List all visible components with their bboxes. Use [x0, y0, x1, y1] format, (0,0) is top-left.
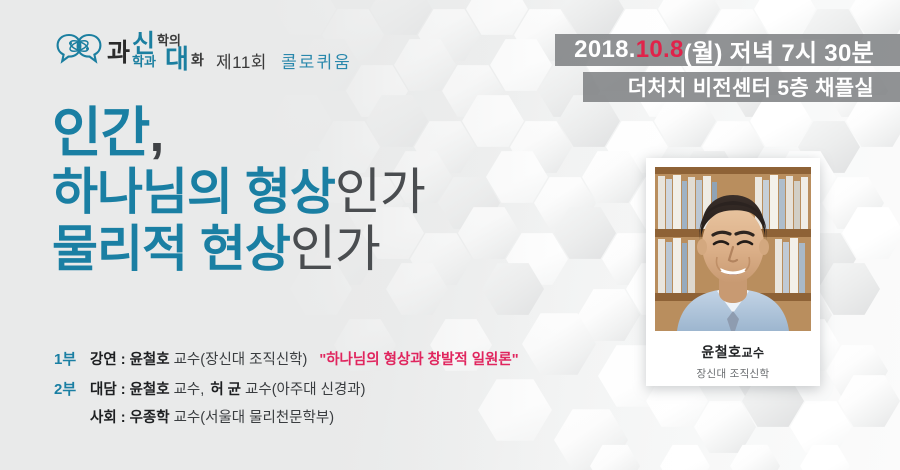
headline-line-3: 물리적 현상인가 [52, 224, 425, 274]
speaker-portrait [655, 167, 811, 331]
part-number-1: 1부 [54, 348, 90, 369]
headline-line-1: 인간, [52, 106, 425, 160]
speaker-title: 교수 [742, 346, 765, 360]
speaker-name-line: 윤철호교수 [655, 342, 811, 362]
date-suffix: (월) 저녁 7시 30분 [684, 33, 874, 68]
part2-role-2: 허 균 [210, 378, 241, 399]
colloquium-label: 제11회 콜로퀴움 [216, 48, 352, 73]
program-row-moderator: 사회 : 우종학 교수(서울대 물리천문학부) [54, 406, 519, 427]
headline-line2-thin: 인가 [335, 164, 425, 220]
part1-lecture-title: "하나님의 형상과 창발적 일원론" [319, 348, 518, 369]
part2-role: 대담 : 윤철호 [90, 378, 170, 399]
headline-line2-strong: 하나님의 형상 [52, 164, 335, 220]
speech-bubble-atom-icon [56, 31, 102, 71]
logo-wordmark: 과 신 학의 학과 대 화 [107, 30, 225, 72]
logo-word-hwa: 화 [191, 53, 204, 67]
logo-word-dae: 대 [165, 46, 189, 72]
part-number-2: 2부 [54, 378, 90, 399]
moderator-detail: 교수(서울대 물리천문학부) [174, 406, 334, 427]
colloquium-ordinal: 제11회 [216, 53, 267, 72]
venue-banner: 더처치 비전센터 5층 채플실 [583, 72, 900, 102]
speaker-caption: 윤철호교수 장신대 조직신학 [655, 342, 811, 381]
program-row-part2: 2부 대담 : 윤철호 교수, 허 균 교수(아주대 신경과) [54, 378, 519, 399]
moderator-role: 사회 : 우종학 [90, 406, 170, 427]
date-accent: 10.8 [636, 36, 684, 64]
headline-line3-thin: 인가 [290, 221, 380, 277]
logo-word-hakgwa: 학과 [132, 55, 156, 68]
event-poster: 과 신 학의 학과 대 화 제11회 콜로퀴움 2018.10.8(월) 저녁 … [0, 0, 900, 470]
speaker-affiliation: 장신대 조직신학 [655, 366, 811, 381]
speaker-name: 윤철호 [701, 344, 741, 360]
poster-headline: 인간, 하나님의 형상인가 물리적 현상인가 [52, 106, 425, 281]
date-banner: 2018.10.8(월) 저녁 7시 30분 [555, 34, 900, 66]
date-prefix: 2018. [574, 36, 636, 64]
organization-logo: 과 신 학의 학과 대 화 [56, 30, 225, 72]
program-list: 1부 강연 : 윤철호 교수(장신대 조직신학) "하나님의 형상과 창발적 일… [54, 348, 519, 436]
headline-line-2: 하나님의 형상인가 [52, 167, 425, 217]
part1-role: 강연 : 윤철호 [90, 348, 170, 369]
part2-detail: 교수, [174, 378, 205, 399]
headline-line3-strong: 물리적 현상 [52, 221, 290, 277]
part2-detail-2: 교수(아주대 신경과) [245, 378, 365, 399]
headline-line1-comma: , [149, 103, 164, 163]
speaker-photo-card: 윤철호교수 장신대 조직신학 [646, 158, 820, 386]
venue-text: 더처치 비전센터 5층 채플실 [628, 72, 874, 102]
part1-detail: 교수(장신대 조직신학) [174, 348, 308, 369]
program-row-part1: 1부 강연 : 윤철호 교수(장신대 조직신학) "하나님의 형상과 창발적 일… [54, 348, 519, 369]
colloquium-name: 콜로퀴움 [281, 53, 352, 72]
logo-word-gwa: 과 [107, 41, 130, 66]
headline-line1-strong: 인간 [52, 103, 149, 163]
